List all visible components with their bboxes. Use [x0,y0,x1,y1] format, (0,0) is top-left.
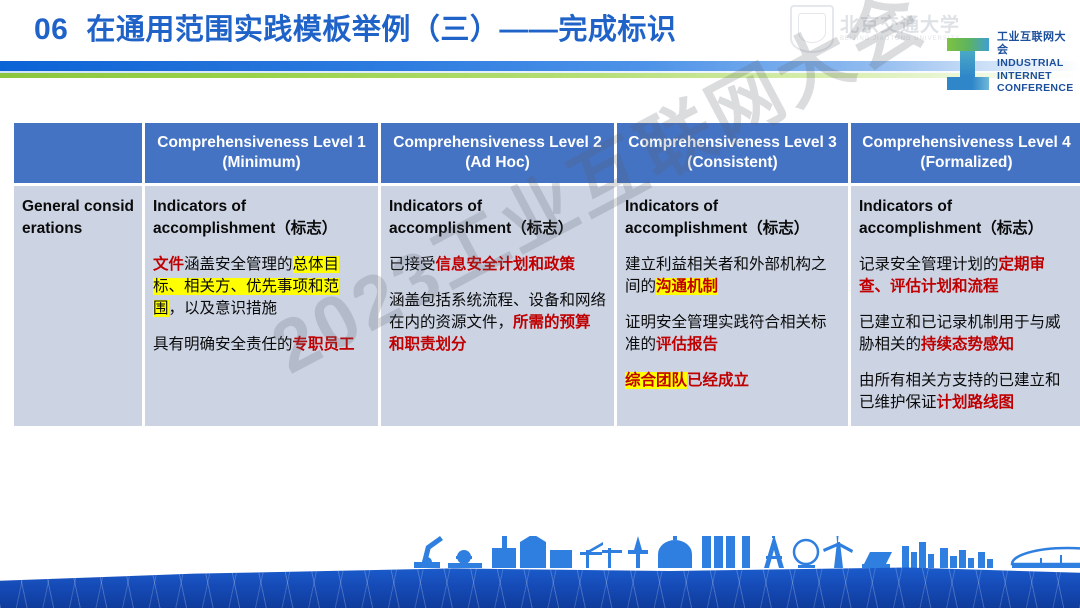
cell-paragraph: 建立利益相关者和外部机构之间的沟通机制 [625,254,840,298]
conference-logo-text: 工业互联网大会 INDUSTRIAL INTERNET CONFERENCE [997,31,1077,94]
conference-name-en-2: INTERNET [997,70,1077,82]
text-run: 计划路线图 [937,394,1015,411]
slide-title-text: 在通用范围实践模板举例（三）——完成标识 [86,6,676,48]
cell-heading: Indicators of accomplishment（标志） [389,196,606,240]
table-row: General considerations Indicators of acc… [14,186,1080,426]
table-header-row: Comprehensiveness Level 1 (Minimum) Comp… [14,123,1080,183]
cell-paragraph: 具有明确安全责任的专职员工 [153,334,370,356]
header-rule-green [0,73,1080,78]
cell-paragraph: 涵盖包括系统流程、设备和网络在内的资源文件，所需的预算和职责划分 [389,290,606,356]
slide-header: 06 在通用范围实践模板举例（三）——完成标识 北京交通大学 BEIJING J… [0,0,1080,100]
column-header-level-2: Comprehensiveness Level 2 (Ad Hoc) [381,123,614,183]
column-header-level-3: Comprehensiveness Level 3 (Consistent) [617,123,848,183]
text-run: 文件 [153,256,184,273]
header-rule-blue [0,61,1080,71]
shield-icon [790,5,834,53]
text-run: 已经成立 [687,372,749,389]
ibeam-icon [945,34,991,92]
slide-root: 06 在通用范围实践模板举例（三）——完成标识 北京交通大学 BEIJING J… [0,0,1080,608]
text-run: 记录安全管理计划的 [859,256,999,273]
cell-paragraph: 记录安全管理计划的定期审查、评估计划和流程 [859,254,1074,298]
cell-level-3: Indicators of accomplishment（标志） 建立利益相关者… [617,186,848,426]
conference-logo: 工业互联网大会 INDUSTRIAL INTERNET CONFERENCE [945,30,1077,96]
maturity-matrix-table: Comprehensiveness Level 1 (Minimum) Comp… [11,120,1069,429]
cell-paragraph: 综合团队已经成立 [625,370,840,392]
page-title: 06 在通用范围实践模板举例（三）——完成标识 [34,6,676,48]
industrial-skyline-icon [400,536,1080,568]
conference-name-en-1: INDUSTRIAL [997,57,1077,69]
text-run: 综合团队 [625,372,687,389]
cell-paragraph: 文件涵盖安全管理的总体目标、相关方、优先事项和范围，以及意识措施 [153,254,370,320]
university-subtitle: BEIJING JIAOTONG UNIVERSITY [840,36,960,42]
cell-paragraph: 由所有相关方支持的已建立和已维护保证计划路线图 [859,370,1074,414]
cell-body: 文件涵盖安全管理的总体目标、相关方、优先事项和范围，以及意识措施具有明确安全责任… [153,254,370,356]
cell-level-2: Indicators of accomplishment（标志） 已接受信息安全… [381,186,614,426]
table-body: General considerations Indicators of acc… [14,186,1080,426]
university-logo-text: 北京交通大学 BEIJING JIAOTONG UNIVERSITY [840,16,960,43]
cell-body: 记录安全管理计划的定期审查、评估计划和流程已建立和已记录机制用于与威胁相关的持续… [859,254,1074,414]
cell-level-1: Indicators of accomplishment（标志） 文件涵盖安全管… [145,186,378,426]
conference-name-cn: 工业互联网大会 [997,31,1077,57]
cell-heading: Indicators of accomplishment（标志） [859,196,1074,240]
footer-mesh-decoration [0,564,1080,608]
cell-paragraph: 证明安全管理实践符合相关标准的评估报告 [625,312,840,356]
university-name: 北京交通大学 [840,16,960,37]
cell-paragraph: 已接受信息安全计划和政策 [389,254,606,276]
conference-name-en-3: CONFERENCE [997,82,1077,94]
column-header-level-1: Comprehensiveness Level 1 (Minimum) [145,123,378,183]
cell-body: 已接受信息安全计划和政策涵盖包括系统流程、设备和网络在内的资源文件，所需的预算和… [389,254,606,356]
cell-body: 建立利益相关者和外部机构之间的沟通机制证明安全管理实践符合相关标准的评估报告综合… [625,254,840,392]
column-header-level-4: Comprehensiveness Level 4 (Formalized) [851,123,1080,183]
cell-level-4: Indicators of accomplishment（标志） 记录安全管理计… [851,186,1080,426]
text-run: 具有明确安全责任的 [153,336,293,353]
text-run: 沟通机制 [656,278,718,295]
cell-heading: Indicators of accomplishment（标志） [625,196,840,240]
text-run: 评估报告 [656,336,718,353]
text-run: 持续态势感知 [921,336,1014,353]
text-run: 信息安全计划和政策 [436,256,576,273]
slide-footer [0,536,1080,608]
text-run: 涵盖安全管理的 [184,256,293,273]
row-label-general-considerations: General considerations [14,186,142,426]
text-run: 专职员工 [293,336,355,353]
text-run: 已接受 [389,256,436,273]
table-corner-cell [14,123,142,183]
cell-paragraph: 已建立和已记录机制用于与威胁相关的持续态势感知 [859,312,1074,356]
slide-number: 06 [34,13,68,47]
cell-heading: Indicators of accomplishment（标志） [153,196,370,240]
text-run: ，以及意识措施 [169,300,278,317]
